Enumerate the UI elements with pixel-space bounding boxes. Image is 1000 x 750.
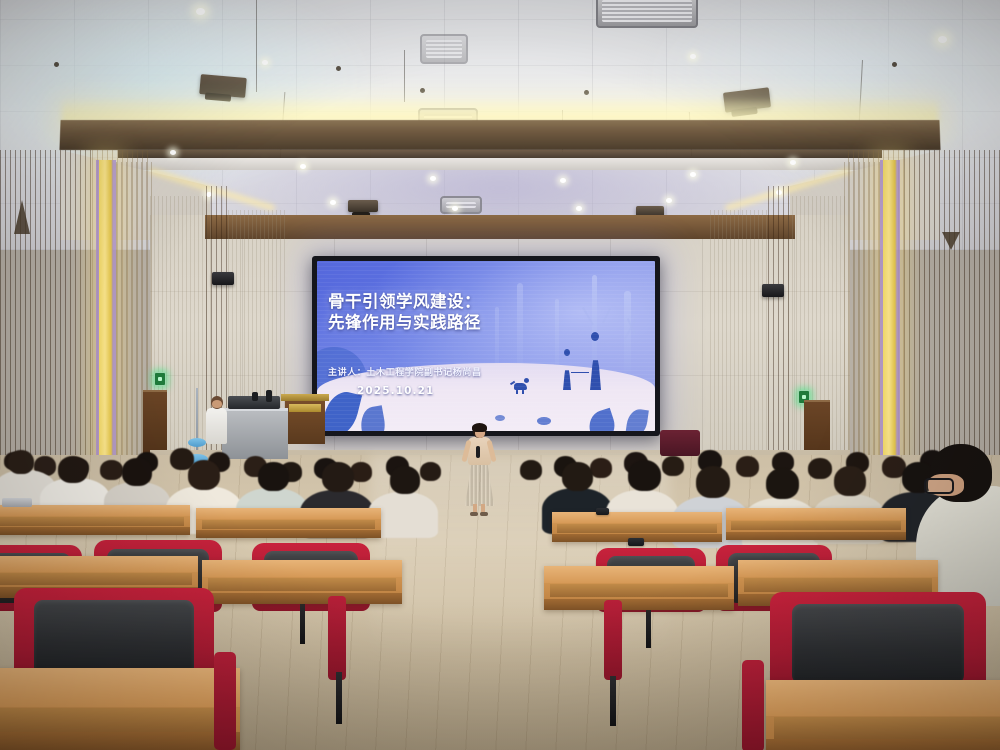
ceiling-downlight-icon xyxy=(560,178,566,183)
ceiling-downlight-icon xyxy=(690,54,696,59)
av-operator-body xyxy=(206,408,227,444)
screen-surface: 骨干引领学风建设： 先锋作用与实践路径 主讲人：土木工程学院副书记杨尚昌 202… xyxy=(317,261,655,431)
presentation-screen[interactable]: 骨干引领学风建设： 先锋作用与实践路径 主讲人：土木工程学院副书记杨尚昌 202… xyxy=(312,256,660,436)
ceiling-hook xyxy=(420,88,425,93)
ceiling-downlight-icon xyxy=(452,206,458,211)
ceiling-beam-face xyxy=(118,158,882,170)
ceiling-hook xyxy=(584,90,589,95)
air-conditioning-vent-icon xyxy=(596,0,698,28)
slide-title-line2: 先锋作用与实践路径 xyxy=(328,312,538,333)
ceiling-hook xyxy=(54,62,59,67)
ceiling-downlight-icon xyxy=(196,8,205,15)
chair-leg xyxy=(610,676,616,726)
aisle-chair-side xyxy=(742,660,764,750)
aisle-chair-side xyxy=(214,652,236,750)
audience-head xyxy=(590,458,612,478)
ceiling-hook xyxy=(892,62,897,67)
ceiling-downlight-icon xyxy=(576,206,582,211)
ceiling-cove-light xyxy=(62,100,938,122)
ceiling-downlight-icon xyxy=(330,200,336,205)
student-desk-foreground xyxy=(766,680,1000,750)
av-operator-face xyxy=(212,400,222,408)
audience-head xyxy=(322,462,354,492)
slide-presenter-line: 主讲人：土木工程学院副书记杨尚昌 xyxy=(328,365,482,378)
presenter-skirt xyxy=(465,464,494,506)
wall-plane-right-b xyxy=(710,210,768,460)
student-desk xyxy=(726,508,906,540)
audience-head xyxy=(808,458,832,479)
audience-head xyxy=(834,466,866,496)
ceiling-downlight-icon xyxy=(666,198,672,203)
far-chair-back xyxy=(660,430,700,456)
wall-pilaster-right xyxy=(768,186,790,486)
lecture-hall-photo: 骨干引领学风建设： 先锋作用与实践路径 主讲人：土木工程学院副书记杨尚昌 202… xyxy=(0,0,1000,750)
ceiling-downlight-icon xyxy=(262,60,268,65)
slide-title-line1: 骨干引领学风建设： xyxy=(328,291,538,312)
student-desk xyxy=(196,508,381,538)
air-conditioning-vent-icon xyxy=(420,34,468,64)
audience-head xyxy=(520,460,542,480)
audience-head xyxy=(562,462,593,491)
audience-head xyxy=(420,462,441,481)
ceiling-wire xyxy=(404,50,405,102)
ceiling-beam xyxy=(59,120,940,150)
av-control-desk[interactable] xyxy=(222,408,288,459)
chair-leg xyxy=(300,600,305,644)
student-desk-foreground xyxy=(0,668,240,750)
ceiling-downlight-icon xyxy=(170,150,176,155)
ceiling-downlight-icon xyxy=(790,160,796,165)
presenter-hair xyxy=(472,423,487,432)
stage-wall-header-band xyxy=(205,215,795,239)
slide-title: 骨干引领学风建设： 先锋作用与实践路径 xyxy=(328,291,538,333)
phone[interactable] xyxy=(628,538,644,546)
audience-head xyxy=(662,456,684,476)
slide-date: 2025.10.21 xyxy=(357,385,434,397)
audience-head xyxy=(766,468,799,499)
ceiling-downlight-icon xyxy=(938,36,947,43)
presenter xyxy=(462,424,496,516)
presenter-shoe xyxy=(480,512,488,516)
audience-head xyxy=(188,460,220,490)
stage-monitor-disc xyxy=(188,438,206,447)
audience-head xyxy=(8,450,34,474)
student-desk xyxy=(0,505,190,535)
lectern-top xyxy=(281,394,329,401)
presenter-shoe xyxy=(470,512,478,516)
emergency-exit-icon xyxy=(154,372,166,386)
eyeglasses-icon xyxy=(924,478,954,494)
lectern-gold-plate xyxy=(289,404,321,412)
air-conditioning-vent-icon xyxy=(440,196,482,214)
screen-scanlines xyxy=(317,261,655,431)
audience-head xyxy=(696,466,730,498)
ceiling-hook xyxy=(336,66,341,71)
audience-head xyxy=(628,460,661,491)
aisle-chair-side xyxy=(328,596,346,680)
ceiling-downlight-icon xyxy=(430,176,436,181)
phone[interactable] xyxy=(596,508,609,515)
audience-head xyxy=(390,466,420,494)
av-knob[interactable] xyxy=(266,390,272,402)
wall-speaker-icon xyxy=(212,272,234,285)
av-knob[interactable] xyxy=(252,392,258,401)
ceiling-downlight-icon xyxy=(300,164,306,169)
student-desk xyxy=(202,560,402,604)
ceiling-projector-icon xyxy=(199,74,247,98)
ceiling-projector-icon xyxy=(348,200,378,212)
wall-speaker-icon xyxy=(762,284,784,297)
audience-head xyxy=(58,456,88,483)
audience-head xyxy=(258,462,289,491)
ceiling-downlight-icon xyxy=(690,172,696,177)
student-desk xyxy=(544,566,734,610)
aisle-chair-side xyxy=(604,600,622,680)
microphone-icon xyxy=(476,446,480,458)
chair-leg xyxy=(646,604,651,648)
laptop[interactable] xyxy=(2,498,32,507)
audience-head xyxy=(736,456,759,477)
ceiling-wire xyxy=(256,0,257,92)
chair-leg xyxy=(336,672,342,724)
audience-head xyxy=(122,458,152,486)
audience-head xyxy=(100,460,123,480)
